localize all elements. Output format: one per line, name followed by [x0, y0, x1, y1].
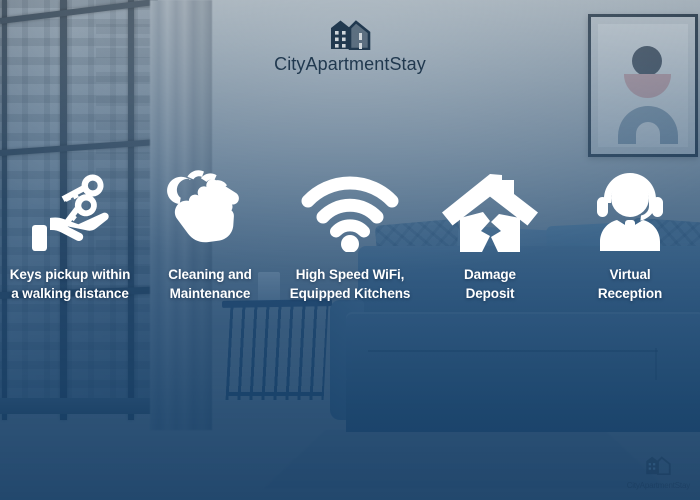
promo-banner: CityApartmentStay Ke [0, 0, 700, 500]
feature-keys-pickup: Keys pickup within a walking distance [0, 168, 140, 303]
buildings-icon [329, 18, 371, 50]
feature-wifi-kitchen: High Speed WiFi, Equipped Kitchens [280, 168, 420, 303]
watermark: CityApartmentStay [627, 455, 690, 490]
wifi-icon [298, 168, 402, 252]
feature-label: Damage Deposit [464, 265, 516, 303]
feature-virtual-reception: Virtual Reception [560, 168, 700, 303]
feature-label: High Speed WiFi, Equipped Kitchens [290, 265, 411, 303]
buildings-icon [645, 455, 671, 475]
feature-label: Keys pickup within a walking distance [10, 265, 130, 303]
feature-damage-deposit: Damage Deposit [420, 168, 560, 303]
house-crack-icon [440, 168, 540, 252]
washing-hands-icon [160, 168, 260, 252]
hand-holding-keys-icon [18, 168, 122, 252]
feature-list: Keys pickup within a walking distance [0, 168, 700, 303]
watermark-label: CityApartmentStay [627, 481, 690, 490]
brand-logo: CityApartmentStay [0, 18, 700, 75]
brand-name: CityApartmentStay [0, 54, 700, 75]
headset-agent-icon [584, 168, 676, 252]
feature-cleaning: Cleaning and Maintenance [140, 168, 280, 303]
feature-label: Virtual Reception [598, 265, 662, 303]
feature-label: Cleaning and Maintenance [168, 265, 252, 303]
